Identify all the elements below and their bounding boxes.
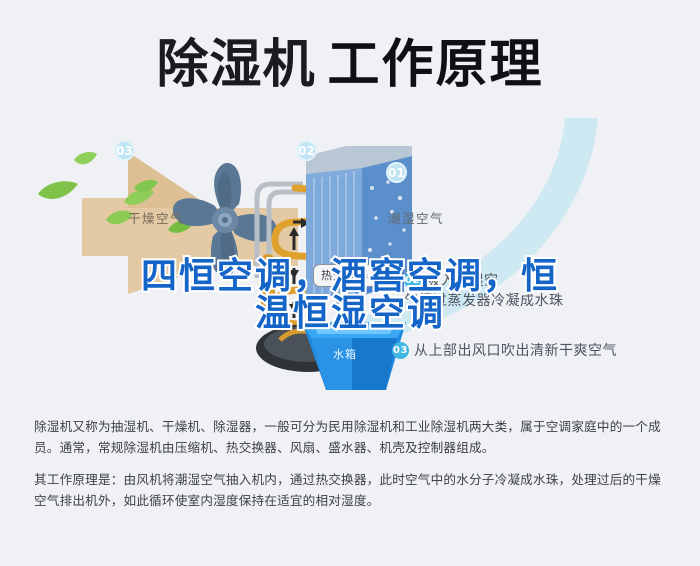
badge-02: 02 <box>296 140 317 161</box>
caption-02-text: 吸入潮湿空 <box>426 270 499 290</box>
caption-02-badge: 02 <box>404 272 421 289</box>
dehumidifier-infographic: 除湿机工作原理 <box>0 0 700 566</box>
title-part-2: 工作原理 <box>328 35 544 95</box>
caption-03: 03 从上部出风口吹出清新干爽空气 <box>392 340 617 360</box>
title-part-1: 除湿机 <box>156 35 315 95</box>
water-tank-label: 水箱 <box>333 346 357 362</box>
diagram-stage: 热交换器 水箱 03 02 01 干燥空气 潮湿空气 02 <box>0 118 700 403</box>
body-copy: 除湿机又称为抽湿机、干燥机、除湿器，一般可分为民用除湿机和工业除湿机两大类，属于… <box>34 416 668 511</box>
body-paragraph-2: 其工作原理是：由风机将潮湿空气抽入机内，通过热交换器，此时空气中的水分子冷凝成水… <box>34 469 668 511</box>
dry-air-label: 干燥空气 <box>128 208 184 227</box>
badge-03: 03 <box>114 140 135 161</box>
body-paragraph-1: 除湿机又称为抽湿机、干燥机、除湿器，一般可分为民用除湿机和工业除湿机两大类，属于… <box>34 416 668 458</box>
caption-03-text: 从上部出风口吹出清新干爽空气 <box>414 340 617 360</box>
caption-02: 02 吸入潮湿空 <box>404 270 499 290</box>
callout-tail-icon <box>330 281 358 311</box>
caption-02-continued: 气经过蒸发器冷凝成水珠 <box>404 290 564 310</box>
page-title: 除湿机工作原理 <box>0 22 700 97</box>
caption-03-badge: 03 <box>392 342 409 359</box>
badge-01: 01 <box>386 162 407 183</box>
moist-air-label: 潮湿空气 <box>388 208 444 227</box>
caption-02b-text: 气经过蒸发器冷凝成水珠 <box>404 290 564 310</box>
